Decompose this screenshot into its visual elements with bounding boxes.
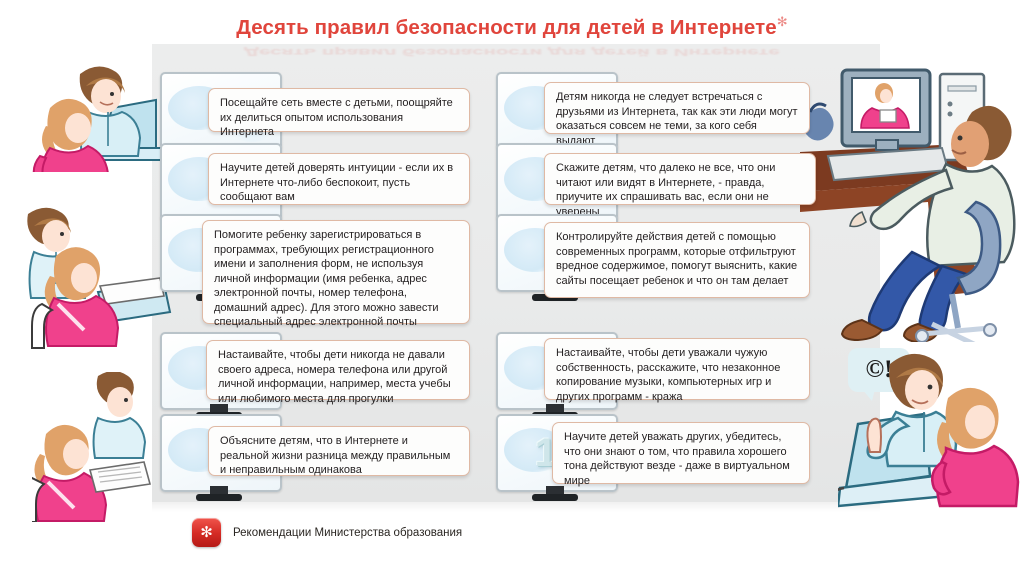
rule-text-3: Помогите ребенку зарегистрироваться в пр…: [214, 228, 459, 330]
rule-text-bubble-4: Настаивайте, чтобы дети никогда не давал…: [206, 340, 470, 400]
illustration-boy-and-girl-reading-at-desk: [14, 200, 174, 350]
rule-text-bubble-1: Посещайте сеть вместе с детьми, поощряйт…: [208, 88, 470, 132]
footer-text: Рекомендации Министерства образования: [233, 527, 462, 539]
rule-text-2: Научите детей доверять интуиции - если и…: [220, 161, 459, 205]
rule-text-5: Объясните детям, что в Интернете и реаль…: [220, 434, 459, 478]
rule-text-bubble-8: Контролируйте действия детей с помощью с…: [544, 222, 810, 298]
poster-root: Десять правил безопасности для детей в И…: [0, 0, 1024, 582]
illustration-man-at-desktop-computer: [800, 52, 1024, 342]
rule-text-bubble-2: Научите детей доверять интуиции - если и…: [208, 153, 470, 205]
rule-text-bubble-9: Настаивайте, чтобы дети уважали чужую со…: [544, 338, 810, 400]
page-title-text: Десять правил безопасности для детей в И…: [236, 16, 776, 39]
rule-text-bubble-3: Помогите ребенку зарегистрироваться в пр…: [202, 220, 470, 324]
monitor-base: [532, 494, 578, 501]
snowflake-icon: ✻: [777, 14, 788, 29]
asterisk-icon: [192, 518, 221, 547]
rule-text-7: Скажите детям, что далеко не все, что он…: [556, 161, 805, 219]
page-title: Десять правил безопасности для детей в И…: [0, 14, 1024, 40]
rule-text-bubble-10: Научите детей уважать других, убедитесь,…: [552, 422, 810, 484]
rule-text-9: Настаивайте, чтобы дети уважали чужую со…: [556, 346, 799, 404]
rule-text-10: Научите детей уважать других, убедитесь,…: [564, 430, 799, 488]
footer: Рекомендации Министерства образования: [192, 518, 462, 547]
illustration-mother-and-girl-at-laptop: [16, 52, 166, 172]
rule-text-1: Посещайте сеть вместе с детьми, поощряйт…: [220, 96, 459, 140]
rule-text-6: Детям никогда не следует встречаться с д…: [556, 90, 799, 148]
rule-text-bubble-7: Скажите детям, что далеко не все, что он…: [544, 153, 816, 205]
rule-text-bubble-5: Объясните детям, что в Интернете и реаль…: [208, 426, 470, 476]
rule-text-8: Контролируйте действия детей с помощью с…: [556, 230, 799, 288]
rule-text-4: Настаивайте, чтобы дети никогда не давал…: [218, 348, 459, 406]
illustration-teacher-pointing-copyright-with-girl: [838, 340, 1024, 520]
rule-text-bubble-6: Детям никогда не следует встречаться с д…: [544, 82, 810, 134]
monitor-base: [196, 494, 242, 501]
